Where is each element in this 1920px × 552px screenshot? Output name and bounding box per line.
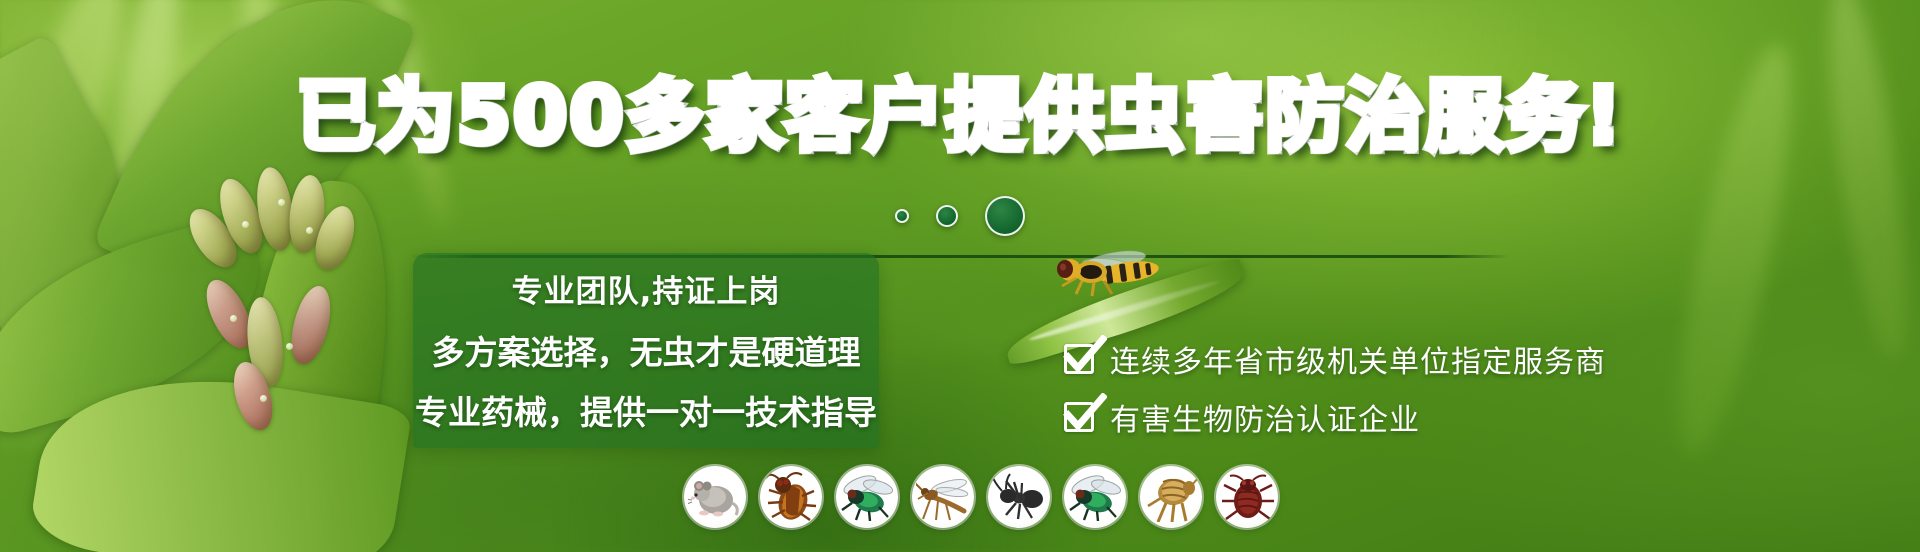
dew-droplet (230, 315, 237, 322)
pest-icon-strip (684, 466, 1278, 528)
dew-droplet (286, 343, 293, 350)
checklist-item: 连续多年省市级机关单位指定服务商 (1064, 330, 1606, 388)
page-title: 已为500多家客户提供虫害防治服务! (0, 78, 1920, 156)
claims-panel: 专业团队,持证上岗 多方案选择，无虫才是硬道理 专业药械，提供一对一技术指导 (413, 253, 879, 448)
ant-icon[interactable] (988, 466, 1050, 528)
claim-line-3: 专业药械，提供一对一技术指导 (413, 383, 879, 443)
mouse-icon[interactable] (684, 466, 746, 528)
dot-mid-icon (936, 205, 958, 227)
pest-control-hero-banner: 已为500多家客户提供虫害防治服务! 已为500多家客户提供虫害防治服务! (0, 0, 1920, 552)
bedbug-icon[interactable] (1216, 466, 1278, 528)
cockroach-icon[interactable] (760, 466, 822, 528)
claim-line-1: 专业团队,持证上岗 (413, 261, 879, 323)
checkbox-checked-icon (1064, 402, 1094, 432)
credentials-checklist: 连续多年省市级机关单位指定服务商 有害生物防治认证企业 (1064, 330, 1606, 446)
decorative-dot-group (0, 196, 1920, 236)
dot-small-icon (895, 209, 909, 223)
checkbox-checked-icon (1064, 344, 1094, 374)
dot-large-icon (985, 196, 1025, 236)
plant-bud (285, 282, 337, 368)
checklist-item: 有害生物防治认证企业 (1064, 388, 1606, 446)
claim-line-2: 多方案选择，无虫才是硬道理 (413, 323, 879, 383)
dew-droplet (260, 395, 267, 402)
fly-icon-2[interactable] (1064, 466, 1126, 528)
fly-icon[interactable] (836, 466, 898, 528)
checklist-item-label: 有害生物防治认证企业 (1110, 395, 1420, 439)
checklist-item-label: 连续多年省市级机关单位指定服务商 (1110, 337, 1606, 381)
flea-icon[interactable] (1140, 466, 1202, 528)
hoverfly-icon (1046, 248, 1171, 298)
mosquito-icon[interactable] (912, 466, 974, 528)
